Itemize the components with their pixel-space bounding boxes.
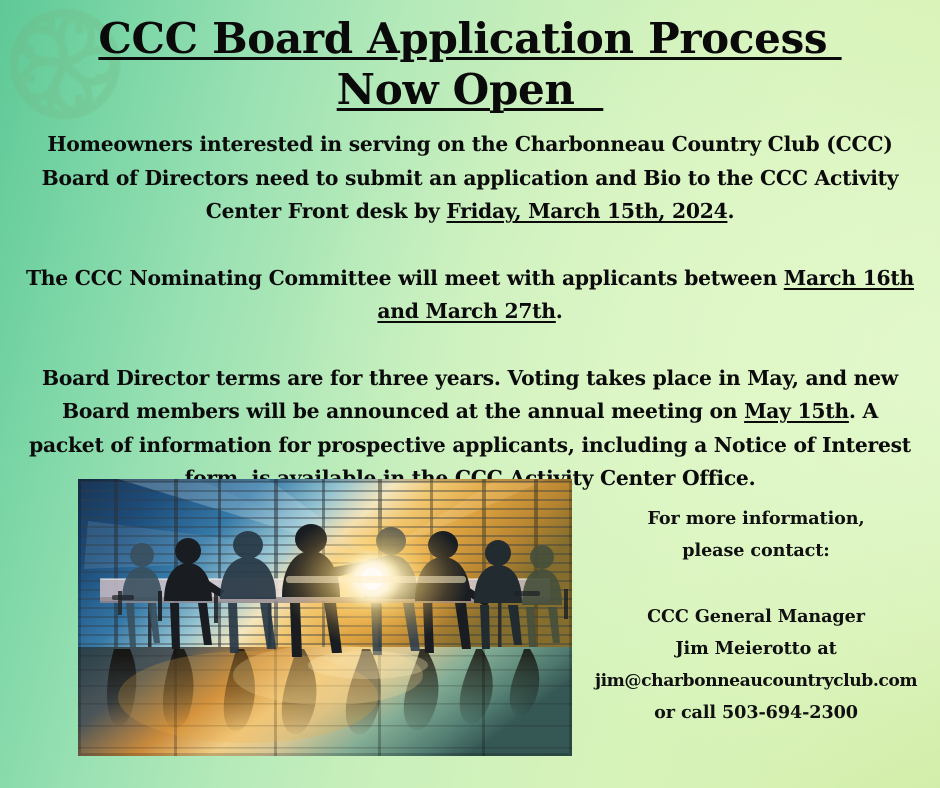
p1-deadline-date: Friday, March 15th, 2024 (446, 199, 727, 223)
contact-details: CCC General Manager Jim Meierotto at jim… (572, 601, 940, 729)
poster-body: Homeowners interested in serving on the … (24, 128, 916, 496)
contact-intro-line-2: please contact: (572, 535, 940, 567)
contact-email[interactable]: jim@charbonneaucountryclub.com (572, 665, 940, 697)
contact-phone[interactable]: or call 503-694-2300 (572, 697, 940, 729)
contact-name: Jim Meierotto at (572, 633, 940, 665)
p2-after: . (556, 299, 563, 323)
p2-before: The CCC Nominating Committee will meet w… (26, 266, 784, 290)
poster-canvas: CCC Board Application Process Now Open H… (0, 0, 940, 788)
contact-information: For more information, please contact: CC… (572, 503, 940, 729)
contact-role: CCC General Manager (572, 601, 940, 633)
poster-title: CCC Board Application Process Now Open (0, 17, 940, 112)
p3-annual-meeting-date: May 15th (744, 399, 849, 423)
contact-intro: For more information, please contact: (572, 503, 940, 567)
title-line-1: CCC Board Application Process (0, 17, 940, 62)
boardroom-meeting-photo (78, 479, 572, 756)
contact-intro-line-1: For more information, (572, 503, 940, 535)
body-paragraph-2: The CCC Nominating Committee will meet w… (24, 262, 916, 329)
body-paragraph-3: Board Director terms are for three years… (24, 362, 916, 496)
title-line-2-text: Now Open (337, 65, 604, 114)
title-line-1-text: CCC Board Application Process (98, 14, 841, 63)
body-paragraph-1: Homeowners interested in serving on the … (24, 128, 916, 229)
p1-after: . (727, 199, 734, 223)
title-line-2: Now Open (0, 68, 940, 113)
